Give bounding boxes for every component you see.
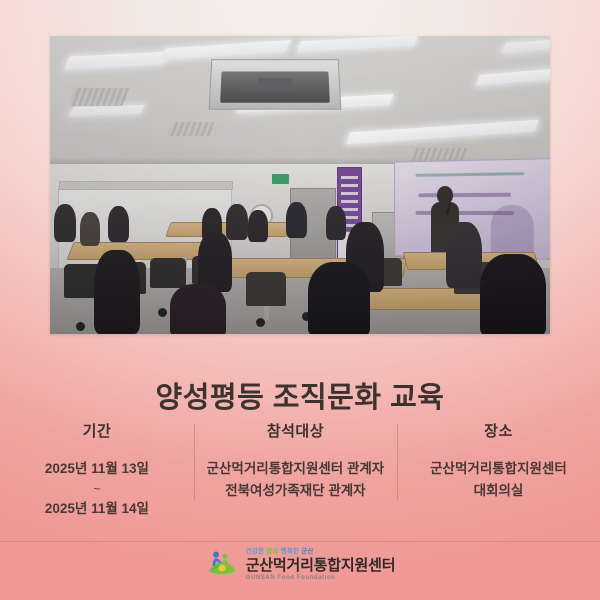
participant xyxy=(198,232,232,292)
period-separator: ~ xyxy=(10,480,184,498)
poster-card: 양성평등 조직문화 교육 기간 2025년 11월 13일 ~ 2025년 11… xyxy=(0,0,600,600)
target-line-2: 전북여성가족재단 관계자 xyxy=(204,480,387,502)
ceiling-light xyxy=(297,36,418,52)
photo-scene xyxy=(50,36,550,334)
ceiling-light xyxy=(346,120,539,145)
period-start-date: 2025년 11월 13일 xyxy=(10,458,184,480)
tagline-word-1: 건강한 xyxy=(246,548,265,555)
ceiling-light xyxy=(476,65,550,86)
participant xyxy=(286,202,307,238)
participant xyxy=(326,206,346,240)
chair-caster xyxy=(256,318,265,327)
projector-lens xyxy=(258,78,292,90)
page-title: 양성평등 조직문화 교육 xyxy=(0,374,600,416)
ceiling-vent xyxy=(167,122,214,136)
participant xyxy=(170,284,226,334)
place-line-1: 군산먹거리통합지원센터 xyxy=(407,458,590,480)
event-info: 기간 2025년 11월 13일 ~ 2025년 11월 14일 참석대상 군산… xyxy=(0,420,600,520)
participant xyxy=(248,210,268,242)
exit-sign-icon xyxy=(272,174,289,184)
participant xyxy=(80,212,100,246)
chair xyxy=(246,272,286,306)
organization-name: 군산먹거리통합지원센터 xyxy=(246,558,396,573)
participant xyxy=(226,204,248,240)
period-end-date: 2025년 11월 14일 xyxy=(10,498,184,520)
screen-silhouette xyxy=(491,205,534,259)
event-photo xyxy=(50,36,550,334)
gunsan-food-foundation-logo-icon xyxy=(205,548,239,582)
participant xyxy=(446,222,482,288)
info-column-place: 장소 군산먹거리통합지원센터 대회의실 xyxy=(397,420,600,502)
target-line-1: 군산먹거리통합지원센터 관계자 xyxy=(204,458,387,480)
tagline-word-3: 행복한 xyxy=(281,548,300,555)
chair-caster xyxy=(158,308,167,317)
participant xyxy=(108,206,129,242)
chair xyxy=(150,258,186,288)
logo-text-block: 건강한 밥상 행복한 군산 군산먹거리통합지원센터 GUNSAN Food Fo… xyxy=(246,549,396,581)
participant xyxy=(308,262,370,334)
info-column-target: 참석대상 군산먹거리통합지원센터 관계자 전북여성가족재단 관계자 xyxy=(194,420,397,502)
place-line-2: 대회의실 xyxy=(407,480,590,502)
info-heading-target: 참석대상 xyxy=(204,420,387,441)
participant xyxy=(480,254,546,334)
footer-divider xyxy=(0,541,600,542)
ceiling-light xyxy=(502,37,550,53)
info-heading-period: 기간 xyxy=(10,420,184,441)
participant xyxy=(54,204,76,242)
screen-text-line xyxy=(416,172,524,177)
ceiling-light xyxy=(64,51,168,69)
ceiling-vent xyxy=(69,88,130,106)
ceiling xyxy=(50,36,550,168)
participant xyxy=(94,250,140,334)
organization-name-english: GUNSAN Food Foundation xyxy=(246,575,336,581)
info-column-period: 기간 2025년 11월 13일 ~ 2025년 11월 14일 xyxy=(0,420,194,520)
ceiling-light xyxy=(161,40,292,60)
tagline-word-4: 군산 xyxy=(301,548,313,555)
footer-logo: 건강한 밥상 행복한 군산 군산먹거리통합지원센터 GUNSAN Food Fo… xyxy=(0,548,600,582)
ceiling-light xyxy=(69,105,145,116)
info-heading-place: 장소 xyxy=(407,420,590,441)
tagline-word-2: 밥상 xyxy=(266,548,278,555)
logo-tagline: 건강한 밥상 행복한 군산 xyxy=(246,549,314,556)
chair-caster xyxy=(76,322,85,331)
